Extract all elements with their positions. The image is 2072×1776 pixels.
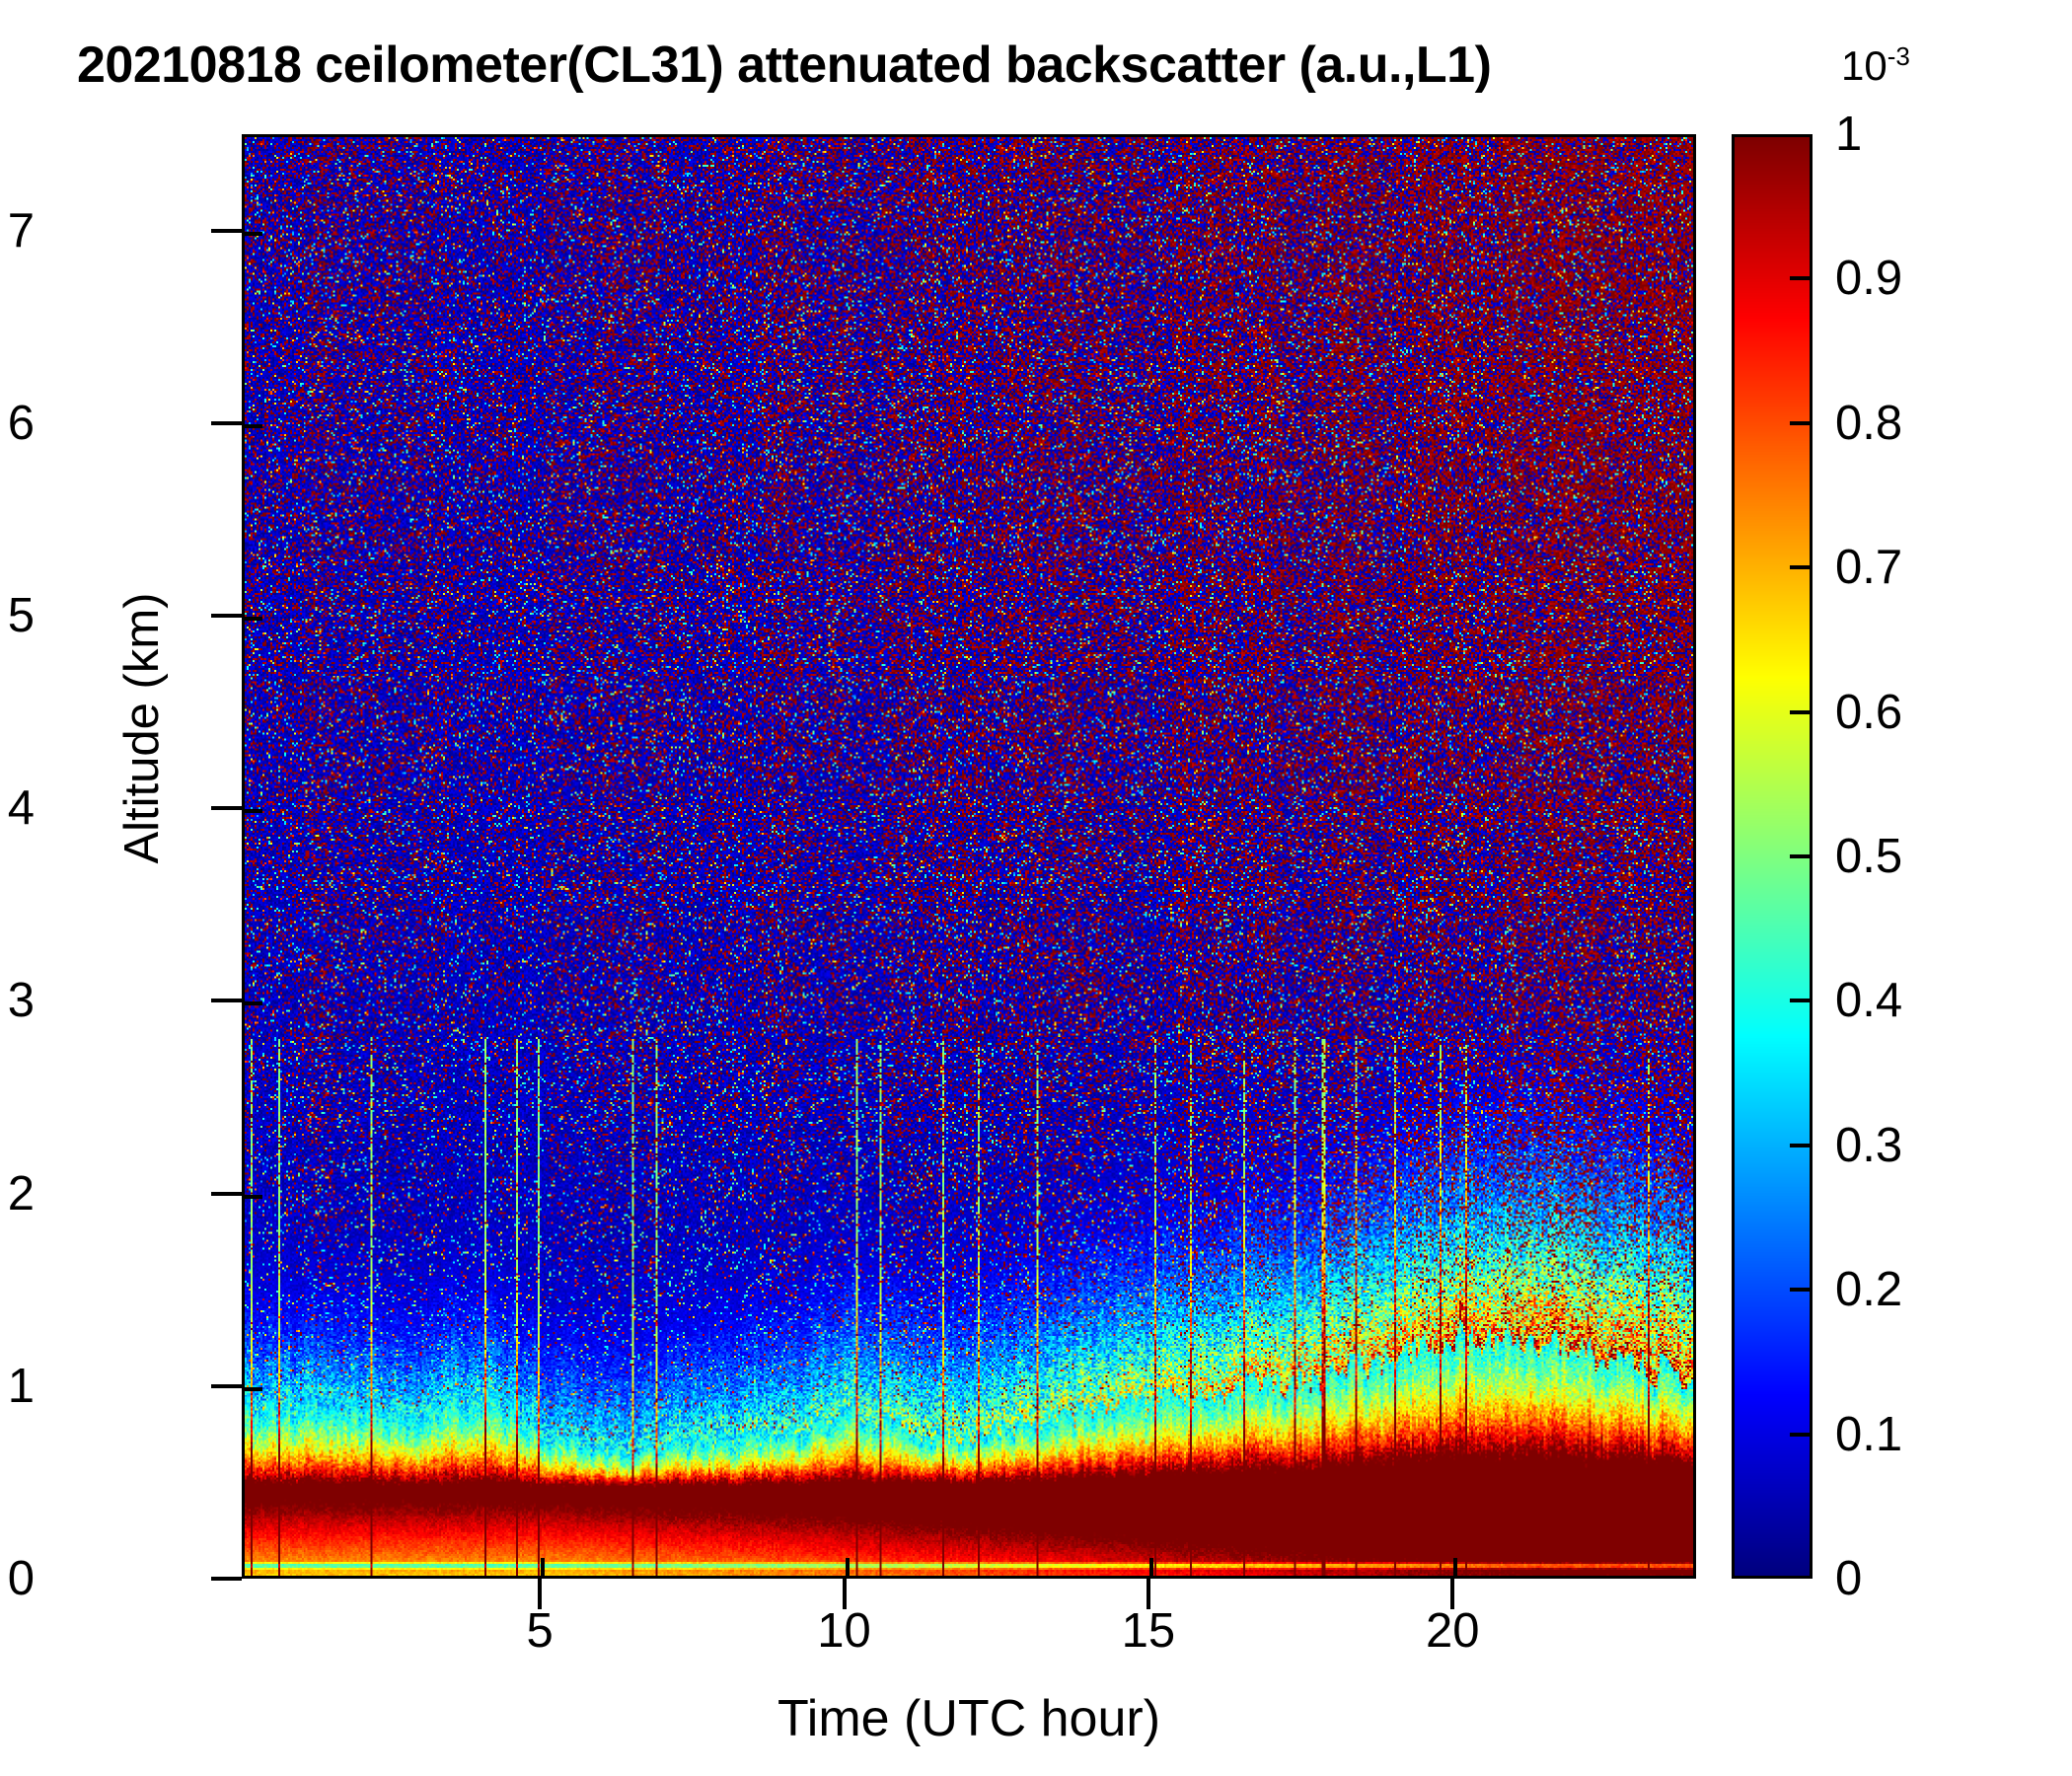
plot-area (242, 134, 1696, 1579)
y-tick-mark (211, 806, 242, 810)
y-tick-inner-mark (245, 809, 262, 813)
x-tick-inner-mark (846, 1558, 850, 1576)
colorbar-tick-mark (1790, 1288, 1810, 1292)
y-tick-label: 5 (0, 588, 35, 643)
x-tick-inner-mark (1149, 1558, 1153, 1576)
colorbar-tick-label: 0 (1835, 1551, 1862, 1606)
x-tick-inner-mark (1453, 1558, 1457, 1576)
y-tick-mark (211, 614, 242, 618)
x-tick-mark (1147, 1579, 1150, 1609)
colorbar-tick-label: 1 (1835, 107, 1862, 162)
y-tick-label: 2 (0, 1166, 35, 1221)
x-tick-label: 20 (1373, 1603, 1531, 1659)
y-axis-label: Altitude (km) (114, 551, 170, 906)
x-axis-label: Time (UTC hour) (242, 1689, 1696, 1748)
colorbar-tick-mark (1790, 565, 1810, 569)
chart-title: 20210818 ceilometer(CL31) attenuated bac… (77, 36, 1491, 95)
colorbar-tick-mark (1790, 999, 1810, 1002)
y-tick-inner-mark (245, 1387, 262, 1391)
colorbar-tick-mark (1790, 421, 1810, 425)
y-tick-inner-mark (245, 1001, 262, 1005)
colorbar-tick-label: 0.6 (1835, 685, 1902, 740)
y-tick-label: 6 (0, 396, 35, 451)
colorbar-tick-label: 0.2 (1835, 1262, 1902, 1317)
colorbar-exponent-power: -3 (1887, 41, 1910, 71)
y-tick-label: 0 (0, 1551, 35, 1606)
x-tick-mark (1450, 1579, 1454, 1609)
x-tick-label: 10 (766, 1603, 924, 1659)
colorbar-tick-mark (1790, 854, 1810, 858)
y-tick-inner-mark (245, 1195, 262, 1199)
y-tick-label: 3 (0, 973, 35, 1028)
colorbar-tick-label: 0.1 (1835, 1407, 1902, 1462)
x-tick-label: 15 (1070, 1603, 1227, 1659)
colorbar-tick-mark (1790, 1144, 1810, 1147)
colorbar-tick-label: 0.9 (1835, 251, 1902, 306)
y-tick-mark (211, 1384, 242, 1388)
colorbar-tick-mark (1790, 276, 1810, 280)
colorbar-tick-label: 0.3 (1835, 1118, 1902, 1173)
y-tick-mark (211, 1577, 242, 1581)
y-tick-inner-mark (245, 232, 262, 236)
colorbar-exponent-base: 10 (1841, 42, 1887, 89)
colorbar-tick-label: 0.5 (1835, 829, 1902, 884)
colorbar-tick-label: 0.8 (1835, 396, 1902, 451)
y-tick-mark (211, 1192, 242, 1196)
y-tick-mark (211, 421, 242, 425)
y-tick-mark (211, 999, 242, 1002)
colorbar-tick-mark (1790, 1433, 1810, 1437)
y-tick-label: 4 (0, 780, 35, 836)
x-tick-mark (538, 1579, 542, 1609)
y-tick-label: 1 (0, 1359, 35, 1414)
colorbar-exponent-label: 10-3 (1841, 41, 1910, 90)
colorbar-tick-label: 0.7 (1835, 540, 1902, 595)
x-tick-inner-mark (541, 1558, 545, 1576)
backscatter-heatmap (245, 137, 1693, 1576)
colorbar-tick-mark (1790, 710, 1810, 714)
figure-canvas: 20210818 ceilometer(CL31) attenuated bac… (0, 0, 2072, 1776)
y-tick-mark (211, 229, 242, 233)
y-tick-inner-mark (245, 424, 262, 428)
x-tick-mark (843, 1579, 847, 1609)
y-tick-inner-mark (245, 617, 262, 621)
y-tick-label: 7 (0, 203, 35, 259)
colorbar-tick-label: 0.4 (1835, 973, 1902, 1028)
x-tick-label: 5 (461, 1603, 619, 1659)
